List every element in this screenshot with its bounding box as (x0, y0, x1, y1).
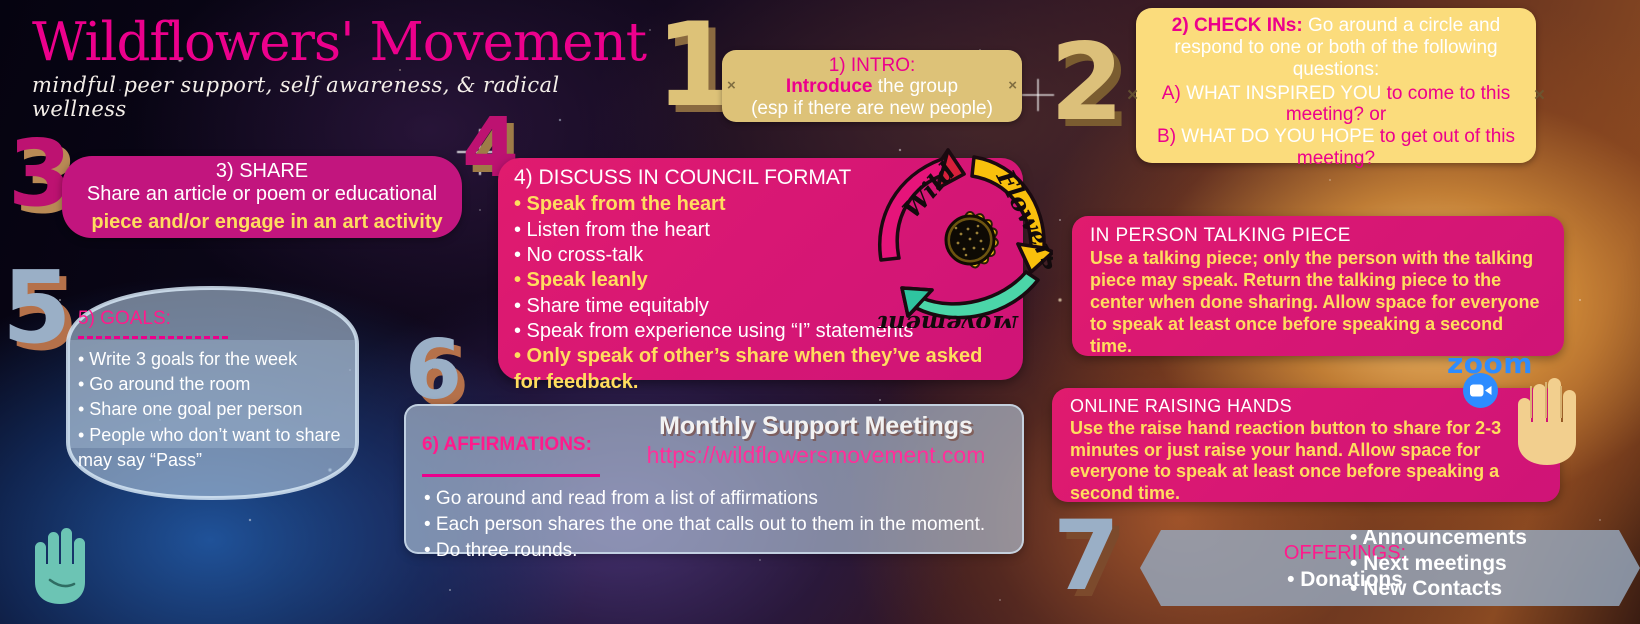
step-6-items-list: • Go around and read from a list of affi… (424, 486, 985, 563)
notch-x-icon: × (1008, 77, 1017, 94)
step-1-line3: (esp if there are new people) (736, 98, 1008, 119)
page-title: Wildflowers' Movement (32, 16, 652, 69)
step-6-divider (422, 474, 600, 477)
in-person-body: Use a talking piece; only the person wit… (1090, 248, 1546, 358)
step-5-goals-card[interactable]: 5) GOALS: • Write 3 goals for the week• … (60, 282, 365, 504)
zoom-video-icon[interactable] (1463, 373, 1498, 408)
step-5-divider (78, 336, 228, 339)
promo-title: Monthly Support Meetings (616, 412, 1016, 441)
poster-header: Wildflowers' Movement mindful peer suppo… (32, 16, 652, 121)
svg-text:Movement: Movement (877, 310, 1019, 328)
list-item: • People who don’t want to share may say… (78, 423, 349, 473)
list-item: • Do three rounds. (424, 538, 985, 564)
online-body: Use the raise hand reaction button to sh… (1070, 418, 1542, 504)
list-item: • Go around and read from a list of affi… (424, 486, 985, 512)
step-number-2: 2 2 (1050, 30, 1122, 136)
list-item: • Go around the room (78, 372, 349, 397)
step-1-emphasis: Introduce (786, 76, 873, 97)
list-item: • Next meetings (1350, 551, 1527, 577)
notch-x-icon: × (1127, 85, 1138, 107)
list-item: • New Contacts (1350, 576, 1527, 602)
step-5-items-list: • Write 3 goals for the week• Go around … (78, 347, 349, 473)
step-3-line2: piece and/or engage in an art activity (62, 211, 472, 234)
step-number-3: 3 3 (8, 128, 70, 220)
step-1-line2: the group (872, 76, 958, 97)
list-item: • Share one goal per person (78, 397, 349, 422)
sunflower-icon (944, 211, 999, 269)
poster-canvas: 1 1 2 2 3 3 4 4 5 5 6 6 7 7 Wildflowers'… (0, 0, 1640, 624)
step-1-heading: 1) INTRO: (736, 55, 1008, 76)
wildflowers-logo: Wild Flowers Movement (868, 148, 1053, 328)
in-person-heading: IN PERSON TALKING PIECE (1090, 225, 1546, 247)
step-2-a-label: A) (1162, 83, 1181, 104)
open-hand-icon (28, 524, 94, 613)
step-6-heading: 6) AFFIRMATIONS: (422, 434, 612, 456)
in-person-talking-piece-card[interactable]: IN PERSON TALKING PIECE Use a talking pi… (1072, 216, 1564, 356)
svg-text:Flowers: Flowers (990, 164, 1053, 274)
step-7-right-list: • Announcements• Next meetings• New Cont… (1350, 525, 1527, 602)
step-3-heading: 3) SHARE (78, 160, 446, 183)
list-item: • Write 3 goals for the week (78, 347, 349, 372)
step-5-heading: 5) GOALS: (78, 308, 349, 330)
step-number-6: 6 6 (405, 330, 460, 412)
step-1-intro-card[interactable]: × × 1) INTRO: Introduce the group (esp i… (722, 50, 1022, 122)
page-subtitle: mindful peer support, self awareness, & … (32, 73, 652, 121)
step-7-offerings-bar[interactable]: OFFERINGS: • Donations • Announcements• … (1140, 530, 1640, 606)
step-3-line1: Share an article or poem or educational (78, 183, 446, 206)
notch-x-icon: × (1534, 85, 1545, 107)
step-2-b-label: B) (1157, 126, 1176, 147)
step-number-7: 7 7 (1053, 508, 1118, 604)
notch-x-icon: × (727, 77, 736, 94)
step-6-affirmations-card[interactable]: 6) AFFIRMATIONS: Monthly Support Meeting… (404, 404, 1024, 554)
step-2-b-emphasis: WHAT DO YOU HOPE (1181, 126, 1374, 147)
step-2-heading: 2) CHECK INs: (1172, 15, 1303, 36)
list-item: • Only speak of other’s share when they’… (514, 344, 1007, 395)
raised-hand-icon (1512, 370, 1588, 471)
step-2-checkins-card[interactable]: × × 2) CHECK INs: Go around a circle and… (1136, 8, 1536, 163)
list-item: • Each person shares the one that calls … (424, 512, 985, 538)
promo-url[interactable]: https://wildflowersmovement.com (616, 442, 1016, 469)
step-2-a-emphasis: WHAT INSPIRED YOU (1186, 83, 1381, 104)
